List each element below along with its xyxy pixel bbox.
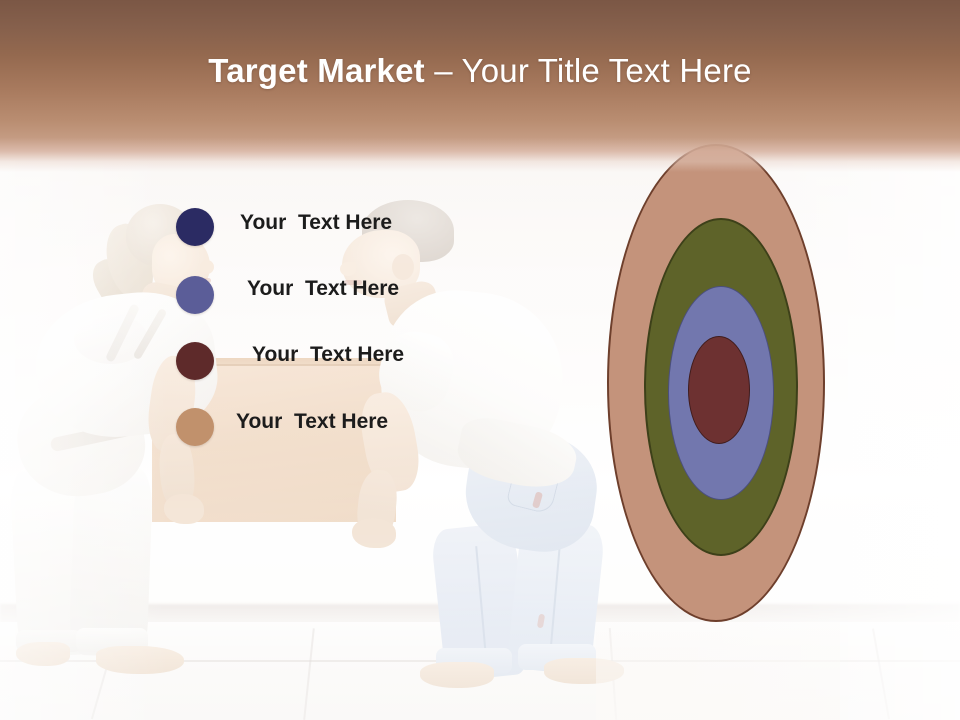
man-hand bbox=[352, 518, 396, 548]
list-item-label: Your Text Here bbox=[247, 277, 399, 301]
list-item-label: Your Text Here bbox=[252, 343, 404, 367]
man-right-foot bbox=[544, 658, 624, 684]
list-item[interactable]: Your Text Here bbox=[176, 270, 516, 336]
page-title: Target Market – Your Title Text Here bbox=[0, 52, 960, 90]
bullet-dot-maroon[interactable] bbox=[176, 342, 214, 380]
bullet-list: Your Text Here Your Text Here Your Text … bbox=[176, 204, 516, 468]
target-diagram[interactable] bbox=[596, 134, 840, 634]
list-item[interactable]: Your Text Here bbox=[176, 402, 516, 468]
bullet-dot-slate-blue[interactable] bbox=[176, 276, 214, 314]
list-item[interactable]: Your Text Here bbox=[176, 336, 516, 402]
man-left-foot bbox=[420, 662, 494, 688]
woman-hand bbox=[164, 494, 204, 524]
woman-right-foot bbox=[96, 646, 184, 674]
list-item-label: Your Text Here bbox=[236, 410, 388, 434]
target-bullseye[interactable] bbox=[688, 336, 750, 444]
bullet-dot-navy[interactable] bbox=[176, 208, 214, 246]
bullet-dot-tan[interactable] bbox=[176, 408, 214, 446]
page-title-strong: Target Market bbox=[208, 52, 425, 89]
woman-left-foot bbox=[16, 642, 70, 666]
list-item-label: Your Text Here bbox=[240, 211, 392, 235]
list-item[interactable]: Your Text Here bbox=[176, 204, 516, 270]
slide-canvas: Target Market – Your Title Text Here You… bbox=[0, 0, 960, 720]
page-title-rest: – Your Title Text Here bbox=[425, 52, 752, 89]
